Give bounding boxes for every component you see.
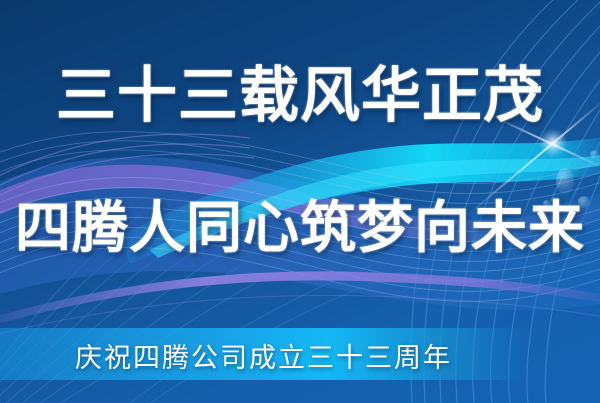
bokeh-circle — [590, 150, 599, 159]
subtitle-text: 庆祝四腾公司成立三十三周年 — [75, 336, 452, 375]
headline-line1: 三十三载风华正茂 — [56, 62, 544, 129]
headline-line2: 四腾人同心筑梦向未来 — [15, 196, 585, 259]
flare-core — [539, 129, 567, 157]
headline-line1-row: 三十三载风华正茂 — [0, 62, 600, 130]
anniversary-banner: 三十三载风华正茂 四腾人同心筑梦向未来 庆祝四腾公司成立三十三周年 — [0, 0, 600, 403]
subtitle-row: 庆祝四腾公司成立三十三周年 — [0, 332, 527, 378]
bokeh-circle — [556, 168, 574, 194]
headline-line2-row: 四腾人同心筑梦向未来 — [0, 196, 600, 260]
